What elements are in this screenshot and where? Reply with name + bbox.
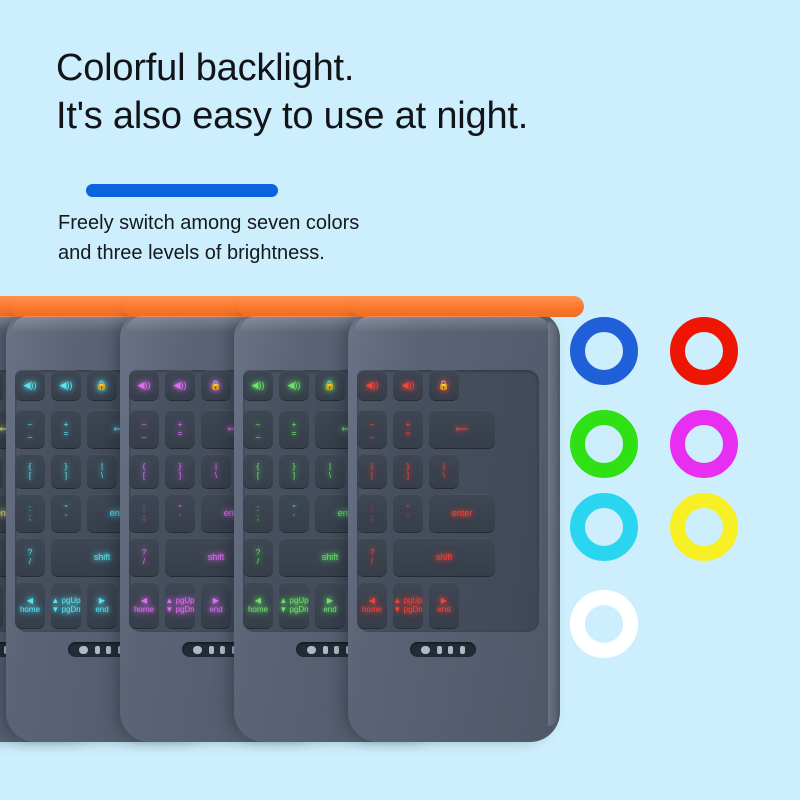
key-brace-right[interactable]: }] bbox=[165, 454, 195, 488]
key-shift-right[interactable]: shift bbox=[393, 538, 495, 576]
key-arrow-right-end[interactable]: ▶end bbox=[429, 582, 459, 628]
key-legend: –_ bbox=[370, 420, 374, 438]
color-ring-magenta[interactable] bbox=[670, 410, 738, 478]
key-legend-top: ◀ bbox=[362, 596, 382, 605]
keyboard-red: ◀))◀))🔒–_+=⟵{[}]|\:;"'enter?/shift◀home▲… bbox=[348, 312, 560, 742]
key-legend-top: ? bbox=[142, 548, 146, 557]
key-legend: ▶end bbox=[209, 596, 222, 614]
key-legend-bottom: ] bbox=[407, 471, 410, 480]
key-legend-bottom: \ bbox=[443, 471, 445, 480]
color-ring-yellow[interactable] bbox=[670, 493, 738, 561]
key-legend-bottom: / bbox=[28, 557, 32, 566]
key-pgup-pgdn[interactable]: ▲ pgUp▼ pgDn bbox=[279, 582, 309, 628]
key-legend: }] bbox=[407, 462, 410, 480]
key-legend-top: + bbox=[406, 420, 411, 429]
key-quote-apostrophe[interactable]: "' bbox=[51, 494, 81, 532]
key-glyph: 🔒 bbox=[210, 380, 221, 390]
key-legend: |\ bbox=[215, 462, 217, 480]
port-indicator-3 bbox=[220, 646, 225, 654]
key-legend: :; bbox=[257, 504, 259, 522]
key-brace-left[interactable]: {[ bbox=[15, 454, 45, 488]
key-legend-top: | bbox=[443, 462, 445, 471]
key-enter[interactable]: enter bbox=[429, 494, 495, 532]
key-legend: ◀home bbox=[362, 596, 382, 614]
key-speaker-mute-icon[interactable]: ◀)) bbox=[357, 370, 387, 400]
key-brace-left[interactable]: {[ bbox=[243, 454, 273, 488]
key-legend-top: ▶ bbox=[95, 596, 108, 605]
key-legend: "' bbox=[179, 504, 182, 522]
key-legend: |\ bbox=[329, 462, 331, 480]
port-indicator-2 bbox=[437, 646, 442, 654]
subcopy: Freely switch among seven colors and thr… bbox=[58, 208, 359, 268]
key-glyph: 🔒 bbox=[324, 380, 335, 390]
key-legend: |\ bbox=[101, 462, 103, 480]
key-legend-bottom: ▼ pgDn bbox=[279, 605, 308, 614]
key-brace-right[interactable]: }] bbox=[279, 454, 309, 488]
key-legend-top: : bbox=[371, 504, 373, 513]
key-legend: ▶end bbox=[323, 596, 336, 614]
key-legend: –_ bbox=[142, 420, 146, 438]
key-question-slash[interactable]: ?/ bbox=[129, 538, 159, 576]
key-minus-underscore[interactable]: –_ bbox=[15, 410, 45, 448]
key-plus-equals[interactable]: += bbox=[279, 410, 309, 448]
key-legend-top: { bbox=[371, 462, 374, 471]
key-legend-bottom: home bbox=[362, 605, 382, 614]
key-legend-bottom: _ bbox=[142, 429, 146, 438]
key-brace-left[interactable]: {[ bbox=[129, 454, 159, 488]
key-minus-underscore[interactable]: –_ bbox=[357, 410, 387, 448]
key-pipe-backslash[interactable]: |\ bbox=[0, 454, 3, 488]
key-arrow-left-home[interactable]: ◀home bbox=[15, 582, 45, 628]
key-brace-left[interactable]: {[ bbox=[357, 454, 387, 488]
key-legend-top: + bbox=[178, 420, 183, 429]
keyboard-top-strip bbox=[352, 296, 584, 317]
key-speaker-mute-icon[interactable]: ◀)) bbox=[15, 370, 45, 400]
key-question-slash[interactable]: ?/ bbox=[243, 538, 273, 576]
subcopy-line-1: Freely switch among seven colors bbox=[58, 208, 359, 238]
key-colon-semicolon[interactable]: :; bbox=[243, 494, 273, 532]
key-legend: |\ bbox=[443, 462, 445, 480]
key-pipe-backslash[interactable]: |\ bbox=[87, 454, 117, 488]
key-pipe-backslash[interactable]: |\ bbox=[429, 454, 459, 488]
key-legend-top: ◀ bbox=[134, 596, 154, 605]
key-arrow-left-home[interactable]: ◀home bbox=[357, 582, 387, 628]
key-legend-bottom: ; bbox=[29, 513, 31, 522]
key-legend-bottom: _ bbox=[256, 429, 260, 438]
key-glyph: ◀)) bbox=[252, 380, 265, 390]
headline-line-2: It's also easy to use at night. bbox=[56, 92, 528, 140]
key-legend: ?/ bbox=[370, 548, 374, 566]
backlight-color-swatches bbox=[560, 306, 790, 676]
key-legend-top: ◀ bbox=[20, 596, 40, 605]
key-legend: ?/ bbox=[28, 548, 32, 566]
key-legend-top: { bbox=[257, 462, 260, 471]
color-ring-white[interactable] bbox=[570, 590, 638, 658]
key-legend-bottom: = bbox=[292, 429, 297, 438]
product-marketing-image: Colorful backlight. It's also easy to us… bbox=[0, 0, 800, 800]
key-legend-bottom: \ bbox=[215, 471, 217, 480]
key-legend-bottom: home bbox=[20, 605, 40, 614]
key-legend-top: ? bbox=[28, 548, 32, 557]
key-volume-icon[interactable]: ◀)) bbox=[393, 370, 423, 400]
key-legend: ◀home bbox=[134, 596, 154, 614]
key-legend: {[ bbox=[257, 462, 260, 480]
key-legend-top: ▶ bbox=[437, 596, 450, 605]
key-glyph: enter bbox=[452, 508, 473, 518]
key-glyph: ◀)) bbox=[60, 380, 73, 390]
key-legend-bottom: _ bbox=[28, 429, 32, 438]
key-glyph: shift bbox=[94, 552, 111, 562]
key-pipe-backslash[interactable]: |\ bbox=[315, 454, 345, 488]
key-legend-bottom: = bbox=[406, 429, 411, 438]
key-grid: ◀))◀))🔒–_+=⟵{[}]|\:;"'enter?/shift◀home▲… bbox=[357, 370, 539, 632]
key-legend-bottom: = bbox=[178, 429, 183, 438]
key-legend-top: ▲ pgUp bbox=[393, 596, 422, 605]
key-legend-top: – bbox=[370, 420, 374, 429]
key-lock-icon[interactable]: 🔒 bbox=[429, 370, 459, 400]
key-lock-icon[interactable]: 🔒 bbox=[201, 370, 231, 400]
page-title: Colorful backlight. It's also easy to us… bbox=[56, 44, 528, 140]
key-legend-top: | bbox=[215, 462, 217, 471]
key-question-slash[interactable]: ?/ bbox=[357, 538, 387, 576]
key-legend-top: ◀ bbox=[248, 596, 268, 605]
key-glyph: shift bbox=[436, 552, 453, 562]
color-ring-red[interactable] bbox=[670, 317, 738, 385]
subcopy-line-2: and three levels of brightness. bbox=[58, 238, 359, 268]
key-legend-top: { bbox=[29, 462, 32, 471]
key-legend: ◀home bbox=[20, 596, 40, 614]
key-legend: :; bbox=[143, 504, 145, 522]
keyboard-lineup: ◀))◀))🔒–_+=⟵{[}]|\:;"'enter?/shift◀home▲… bbox=[0, 290, 560, 750]
key-legend-top: – bbox=[142, 420, 146, 429]
key-arrow-left-home[interactable]: ◀home bbox=[129, 582, 159, 628]
key-legend-top: } bbox=[407, 462, 410, 471]
key-speaker-mute-icon[interactable]: ◀)) bbox=[129, 370, 159, 400]
key-arrow-right-end[interactable]: ▶end bbox=[0, 582, 3, 628]
key-arrow-right-end[interactable]: ▶end bbox=[315, 582, 345, 628]
key-legend: "' bbox=[293, 504, 296, 522]
key-quote-apostrophe[interactable]: "' bbox=[393, 494, 423, 532]
key-legend-top: – bbox=[28, 420, 32, 429]
key-legend-bottom: / bbox=[370, 557, 374, 566]
key-legend-bottom: end bbox=[323, 605, 336, 614]
key-pgup-pgdn[interactable]: ▲ pgUp▼ pgDn bbox=[51, 582, 81, 628]
port-indicator-3 bbox=[106, 646, 111, 654]
key-legend-top: ? bbox=[370, 548, 374, 557]
key-legend-top: } bbox=[65, 462, 68, 471]
key-legend-top: : bbox=[143, 504, 145, 513]
key-legend: ▲ pgUp▼ pgDn bbox=[51, 596, 80, 614]
key-glyph: ◀)) bbox=[174, 380, 187, 390]
key-glyph: ◀)) bbox=[288, 380, 301, 390]
key-glyph: ◀)) bbox=[366, 380, 379, 390]
key-colon-semicolon[interactable]: :; bbox=[357, 494, 387, 532]
key-backspace[interactable]: ⟵ bbox=[429, 410, 495, 448]
key-legend-bottom: \ bbox=[101, 471, 103, 480]
key-legend-bottom: ] bbox=[65, 471, 68, 480]
key-legend-top: | bbox=[101, 462, 103, 471]
accent-divider-bar bbox=[86, 184, 278, 197]
indicator-port-strip bbox=[410, 642, 476, 657]
key-legend-top: ▶ bbox=[323, 596, 336, 605]
key-pipe-backslash[interactable]: |\ bbox=[201, 454, 231, 488]
headline-line-1: Colorful backlight. bbox=[56, 44, 528, 92]
key-legend-top: " bbox=[179, 504, 182, 513]
key-legend-bottom: home bbox=[134, 605, 154, 614]
port-indicator-2 bbox=[95, 646, 100, 654]
key-legend: –_ bbox=[256, 420, 260, 438]
key-legend-top: + bbox=[292, 420, 297, 429]
key-speaker-mute-icon[interactable]: ◀)) bbox=[243, 370, 273, 400]
key-brace-right[interactable]: }] bbox=[51, 454, 81, 488]
key-legend: }] bbox=[293, 462, 296, 480]
port-indicator-1 bbox=[421, 646, 430, 654]
key-legend: += bbox=[64, 420, 69, 438]
key-legend: :; bbox=[29, 504, 31, 522]
key-legend-bottom: ▼ pgDn bbox=[51, 605, 80, 614]
key-legend: ?/ bbox=[142, 548, 146, 566]
key-legend: ▲ pgUp▼ pgDn bbox=[279, 596, 308, 614]
key-quote-apostrophe[interactable]: "' bbox=[165, 494, 195, 532]
key-volume-icon[interactable]: ◀)) bbox=[51, 370, 81, 400]
key-legend-bottom: ▼ pgDn bbox=[393, 605, 422, 614]
key-legend-top: ▲ pgUp bbox=[279, 596, 308, 605]
key-legend-bottom: [ bbox=[257, 471, 260, 480]
port-indicator-4 bbox=[460, 646, 465, 654]
key-legend: :; bbox=[371, 504, 373, 522]
key-legend: ▶end bbox=[437, 596, 450, 614]
key-legend: ?/ bbox=[256, 548, 260, 566]
key-legend-top: ▶ bbox=[209, 596, 222, 605]
color-ring-blue[interactable] bbox=[570, 317, 638, 385]
key-glyph: 🔒 bbox=[438, 380, 449, 390]
key-legend-bottom: home bbox=[248, 605, 268, 614]
key-glyph: shift bbox=[322, 552, 339, 562]
port-indicator-1 bbox=[307, 646, 316, 654]
color-ring-green[interactable] bbox=[570, 410, 638, 478]
key-legend-bottom: / bbox=[256, 557, 260, 566]
port-indicator-3 bbox=[448, 646, 453, 654]
port-indicator-2 bbox=[323, 646, 328, 654]
key-legend: ◀home bbox=[248, 596, 268, 614]
key-arrow-left-home[interactable]: ◀home bbox=[243, 582, 273, 628]
key-arrow-right-end[interactable]: ▶end bbox=[201, 582, 231, 628]
key-glyph: 🔒 bbox=[96, 380, 107, 390]
key-lock-icon[interactable]: 🔒 bbox=[315, 370, 345, 400]
key-legend-top: { bbox=[143, 462, 146, 471]
key-glyph: shift bbox=[208, 552, 225, 562]
key-legend-top: : bbox=[29, 504, 31, 513]
key-volume-icon[interactable]: ◀)) bbox=[279, 370, 309, 400]
key-legend-bottom: end bbox=[437, 605, 450, 614]
key-legend: }] bbox=[65, 462, 68, 480]
key-volume-icon[interactable]: ◀)) bbox=[165, 370, 195, 400]
key-legend-top: ? bbox=[256, 548, 260, 557]
key-legend: += bbox=[178, 420, 183, 438]
key-legend-top: : bbox=[257, 504, 259, 513]
key-plus-equals[interactable]: += bbox=[393, 410, 423, 448]
port-indicator-1 bbox=[79, 646, 88, 654]
key-pgup-pgdn[interactable]: ▲ pgUp▼ pgDn bbox=[393, 582, 423, 628]
key-legend-bottom: [ bbox=[29, 471, 32, 480]
key-quote-apostrophe[interactable]: "' bbox=[279, 494, 309, 532]
key-legend: += bbox=[406, 420, 411, 438]
key-legend-top: " bbox=[293, 504, 296, 513]
key-brace-right[interactable]: }] bbox=[393, 454, 423, 488]
key-legend-bottom: ' bbox=[65, 513, 68, 522]
key-glyph: ◀)) bbox=[24, 380, 37, 390]
key-legend: ▲ pgUp▼ pgDn bbox=[393, 596, 422, 614]
key-legend-bottom: [ bbox=[371, 471, 374, 480]
key-legend-bottom: ; bbox=[143, 513, 145, 522]
key-legend: {[ bbox=[371, 462, 374, 480]
key-legend: "' bbox=[65, 504, 68, 522]
port-indicator-2 bbox=[209, 646, 214, 654]
color-ring-cyan[interactable] bbox=[570, 493, 638, 561]
key-legend-top: + bbox=[64, 420, 69, 429]
key-legend: += bbox=[292, 420, 297, 438]
key-legend-bottom: _ bbox=[370, 429, 374, 438]
key-legend-bottom: ' bbox=[293, 513, 296, 522]
key-colon-semicolon[interactable]: :; bbox=[129, 494, 159, 532]
key-legend-bottom: ] bbox=[293, 471, 296, 480]
key-legend: –_ bbox=[28, 420, 32, 438]
port-indicator-1 bbox=[193, 646, 202, 654]
key-plus-equals[interactable]: += bbox=[165, 410, 195, 448]
key-legend: "' bbox=[407, 504, 410, 522]
key-plus-equals[interactable]: += bbox=[51, 410, 81, 448]
key-glyph: ⟵ bbox=[456, 424, 469, 434]
key-legend-bottom: end bbox=[95, 605, 108, 614]
key-legend-bottom: ▼ pgDn bbox=[165, 605, 194, 614]
port-indicator-3 bbox=[334, 646, 339, 654]
key-legend: {[ bbox=[143, 462, 146, 480]
key-legend-bottom: ] bbox=[179, 471, 182, 480]
key-legend-top: " bbox=[65, 504, 68, 513]
key-lock-icon[interactable]: 🔒 bbox=[0, 370, 3, 400]
key-legend-top: | bbox=[329, 462, 331, 471]
key-minus-underscore[interactable]: –_ bbox=[129, 410, 159, 448]
key-legend-top: } bbox=[179, 462, 182, 471]
key-question-slash[interactable]: ?/ bbox=[15, 538, 45, 576]
key-legend-top: ▲ pgUp bbox=[165, 596, 194, 605]
key-legend-top: } bbox=[293, 462, 296, 471]
key-legend-bottom: [ bbox=[143, 471, 146, 480]
key-pgup-pgdn[interactable]: ▲ pgUp▼ pgDn bbox=[165, 582, 195, 628]
key-colon-semicolon[interactable]: :; bbox=[15, 494, 45, 532]
key-legend-bottom: ; bbox=[371, 513, 373, 522]
key-legend-top: ▲ pgUp bbox=[51, 596, 80, 605]
key-legend: ▲ pgUp▼ pgDn bbox=[165, 596, 194, 614]
key-legend-bottom: ' bbox=[179, 513, 182, 522]
key-legend-bottom: \ bbox=[329, 471, 331, 480]
key-legend: }] bbox=[179, 462, 182, 480]
key-legend-bottom: ; bbox=[257, 513, 259, 522]
key-lock-icon[interactable]: 🔒 bbox=[87, 370, 117, 400]
key-legend-bottom: = bbox=[64, 429, 69, 438]
key-arrow-right-end[interactable]: ▶end bbox=[87, 582, 117, 628]
key-glyph: ◀)) bbox=[402, 380, 415, 390]
key-legend-bottom: / bbox=[142, 557, 146, 566]
keyboard-bezel-highlight bbox=[354, 316, 550, 332]
key-legend-bottom: end bbox=[209, 605, 222, 614]
key-legend: ▶end bbox=[95, 596, 108, 614]
key-legend-top: " bbox=[407, 504, 410, 513]
key-legend: {[ bbox=[29, 462, 32, 480]
key-legend-top: – bbox=[256, 420, 260, 429]
key-glyph: ◀)) bbox=[138, 380, 151, 390]
key-legend-bottom: ' bbox=[407, 513, 410, 522]
key-minus-underscore[interactable]: –_ bbox=[243, 410, 273, 448]
